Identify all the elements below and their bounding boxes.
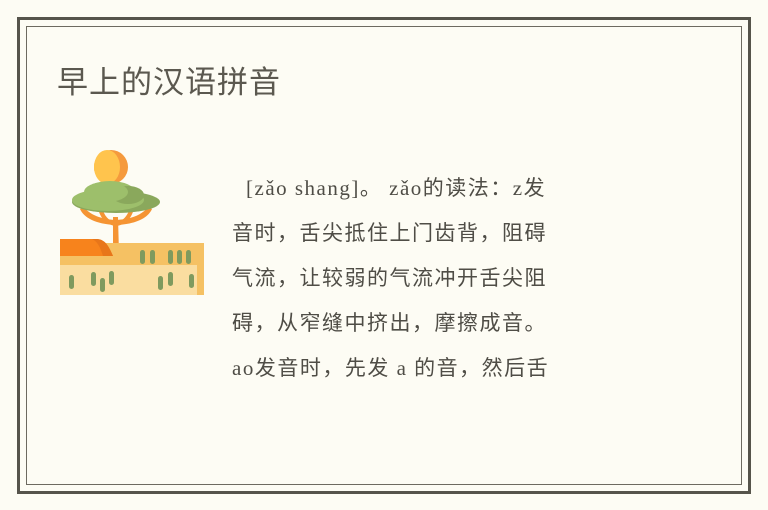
body-line: ao发音时，先发 a 的音，然后舌 — [232, 346, 674, 391]
body-line: 气流，让较弱的气流冲开舌尖阻 — [232, 256, 674, 301]
page-title: 早上的汉语拼音 — [57, 62, 281, 104]
sun-icon — [94, 150, 128, 184]
savanna-sunrise-illustration — [56, 140, 208, 296]
body-line: [zǎo shang]。 zǎo的读法：z发 — [232, 166, 674, 211]
pronunciation-description: [zǎo shang]。 zǎo的读法：z发 音时，舌尖抵住上门齿背，阻碍 气流… — [232, 166, 674, 391]
savanna-ground — [60, 239, 204, 295]
page-container: 早上的汉语拼音 — [0, 0, 768, 510]
body-line: 音时，舌尖抵住上门齿背，阻碍 — [232, 211, 674, 256]
body-line: 碍，从窄缝中挤出，摩擦成音。 — [232, 301, 674, 346]
